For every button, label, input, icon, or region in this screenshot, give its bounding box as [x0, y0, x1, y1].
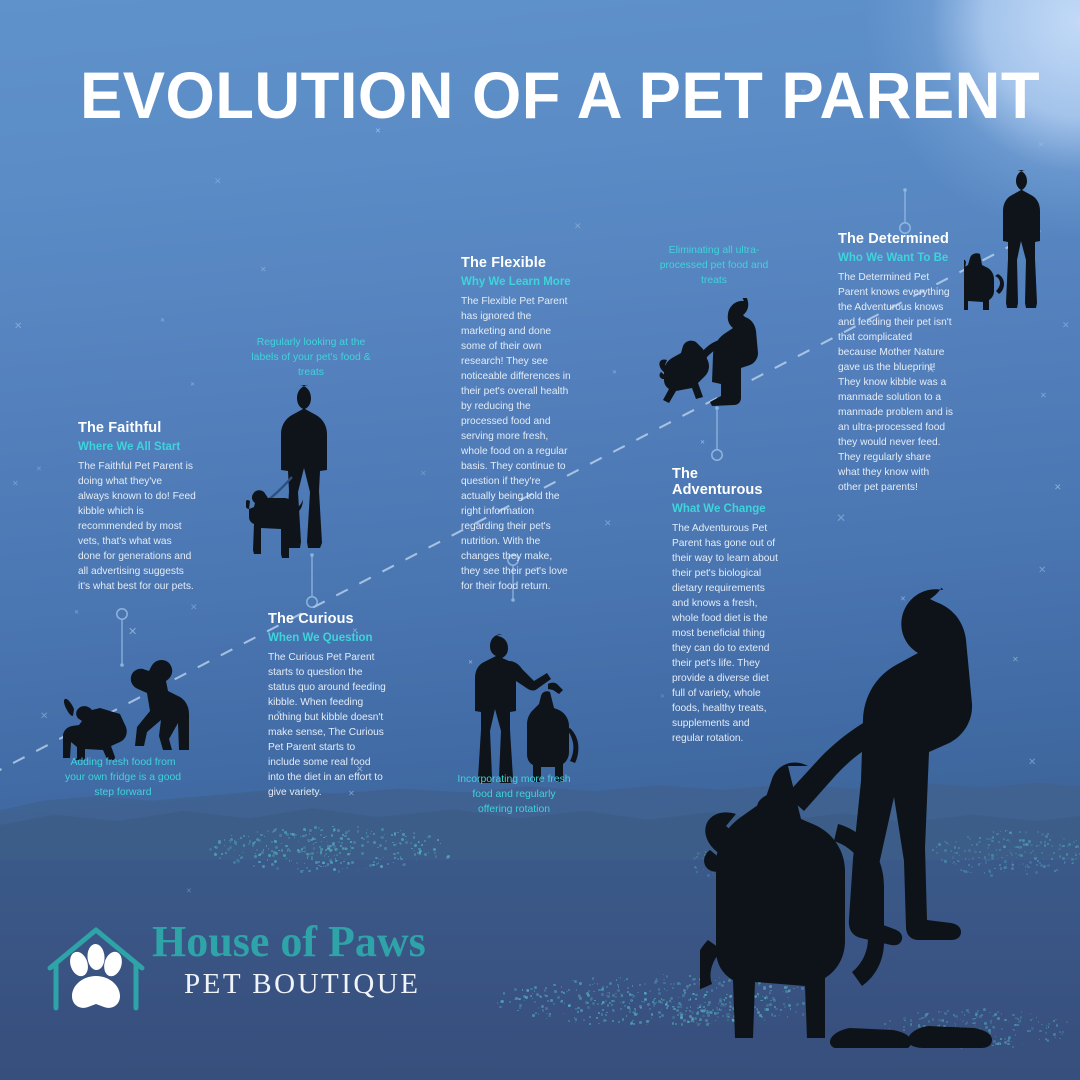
- silhouette-walking-man-dog: [964, 168, 1054, 310]
- stage-title-determined: The Determined: [838, 231, 953, 247]
- house-paw-icon: [44, 920, 148, 1012]
- stage-body-determined: The Determined Pet Parent knows everythi…: [838, 271, 953, 496]
- stage-block-determined: The Determined Who We Want To Be The Det…: [838, 231, 953, 496]
- caption-flexible: Incorporating more fresh food and regula…: [455, 773, 573, 817]
- stage-block-adventurous: The Adventurous What We Change The Adven…: [672, 466, 784, 747]
- stage-body-faithful: The Faithful Pet Parent is doing what th…: [78, 460, 196, 595]
- stage-block-curious: The Curious When We Question The Curious…: [268, 611, 386, 801]
- silhouette-man-with-leashed-dog: [246, 382, 372, 560]
- silhouette-kneeling-woman-jumping-dog: [658, 298, 776, 406]
- stage-title-flexible: The Flexible: [461, 255, 571, 271]
- caption-curious: Regularly looking at the labels of your …: [251, 336, 371, 380]
- logo-wordmark: House of Paws: [152, 916, 426, 967]
- stage-subtitle-adventurous: What We Change: [672, 503, 784, 515]
- stage-block-flexible: The Flexible Why We Learn More The Flexi…: [461, 255, 571, 595]
- silhouette-man-training-dog: [458, 632, 580, 784]
- brand-logo[interactable]: House of Paws PET BOUTIQUE: [44, 918, 424, 1030]
- stage-body-adventurous: The Adventurous Pet Parent has gone out …: [672, 522, 784, 747]
- caption-adventurous: Eliminating all ultra-processed pet food…: [655, 244, 773, 288]
- stage-subtitle-determined: Who We Want To Be: [838, 252, 953, 264]
- stage-subtitle-flexible: Why We Learn More: [461, 276, 571, 288]
- stage-body-curious: The Curious Pet Parent starts to questio…: [268, 651, 386, 801]
- stage-body-flexible: The Flexible Pet Parent has ignored the …: [461, 295, 571, 595]
- stage-subtitle-faithful: Where We All Start: [78, 441, 196, 453]
- stage-title-curious: The Curious: [268, 611, 386, 627]
- silhouette-crouching-man-dog: [58, 648, 198, 760]
- caption-faithful: Adding fresh food from your own fridge i…: [62, 756, 184, 800]
- stage-title-faithful: The Faithful: [78, 420, 196, 436]
- stage-subtitle-curious: When We Question: [268, 632, 386, 644]
- infographic-canvas: ✕✕✕✕✕✕✕✕✕✕✕✕✕✕✕✕✕✕✕✕✕✕✕✕✕✕✕✕✕✕✕✕✕✕✕✕✕✕✕✕: [0, 0, 1080, 1080]
- page-title: EVOLUTION OF A PET PARENT: [80, 57, 963, 133]
- logo-tagline: PET BOUTIQUE: [184, 968, 420, 1001]
- stage-block-faithful: The Faithful Where We All Start The Fait…: [78, 420, 196, 595]
- stage-title-adventurous: The Adventurous: [672, 466, 784, 498]
